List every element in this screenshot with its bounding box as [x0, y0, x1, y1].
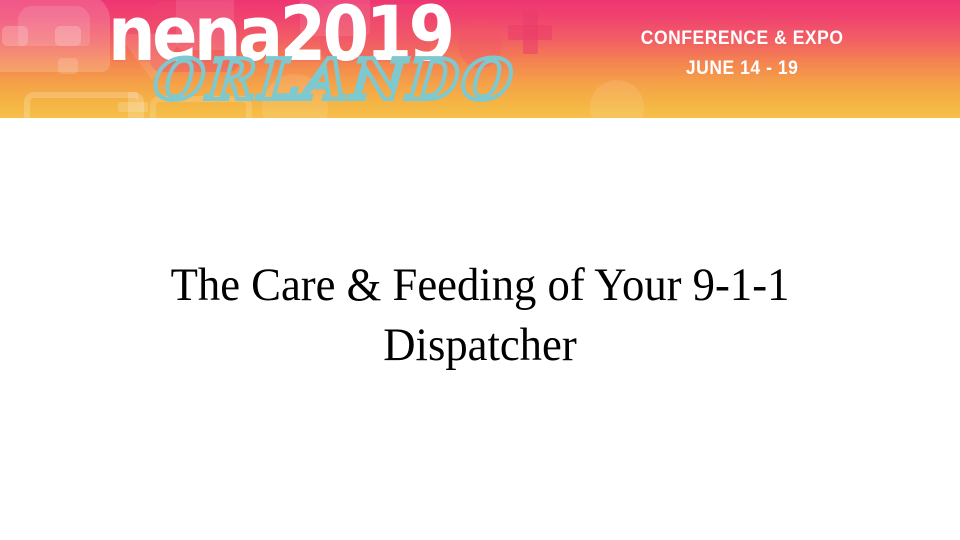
slide-title-line-2: Dispatcher: [383, 319, 576, 371]
watermark-window-shape-1: [2, 26, 28, 46]
watermark-window-shape-2: [55, 26, 81, 46]
watermark-circle-shape-2: [590, 80, 644, 118]
conference-expo-label: CONFERENCE & EXPO: [641, 28, 844, 50]
slide-content-area: The Care & Feeding of Your 9-1-1 Dispatc…: [0, 118, 960, 540]
slide-title-line-1: The Care & Feeding of Your 9-1-1: [171, 259, 790, 311]
orlando-script-text: ORLANDO: [152, 52, 518, 108]
watermark-ambulance-cab-icon: [18, 6, 90, 46]
slide-title: The Care & Feeding of Your 9-1-1 Dispatc…: [81, 255, 879, 375]
conference-details: CONFERENCE & EXPO JUNE 14 - 19: [632, 28, 852, 80]
conference-banner: nena2019 ORLANDO CONFERENCE & EXPO JUNE …: [0, 0, 960, 118]
watermark-window-shape-3: [58, 58, 78, 74]
watermark-outline-box-1: [24, 92, 144, 118]
conference-dates-label: JUNE 14 - 19: [641, 58, 844, 80]
watermark-ambulance-icon: [0, 0, 110, 72]
medical-cross-small-icon: [118, 92, 148, 118]
